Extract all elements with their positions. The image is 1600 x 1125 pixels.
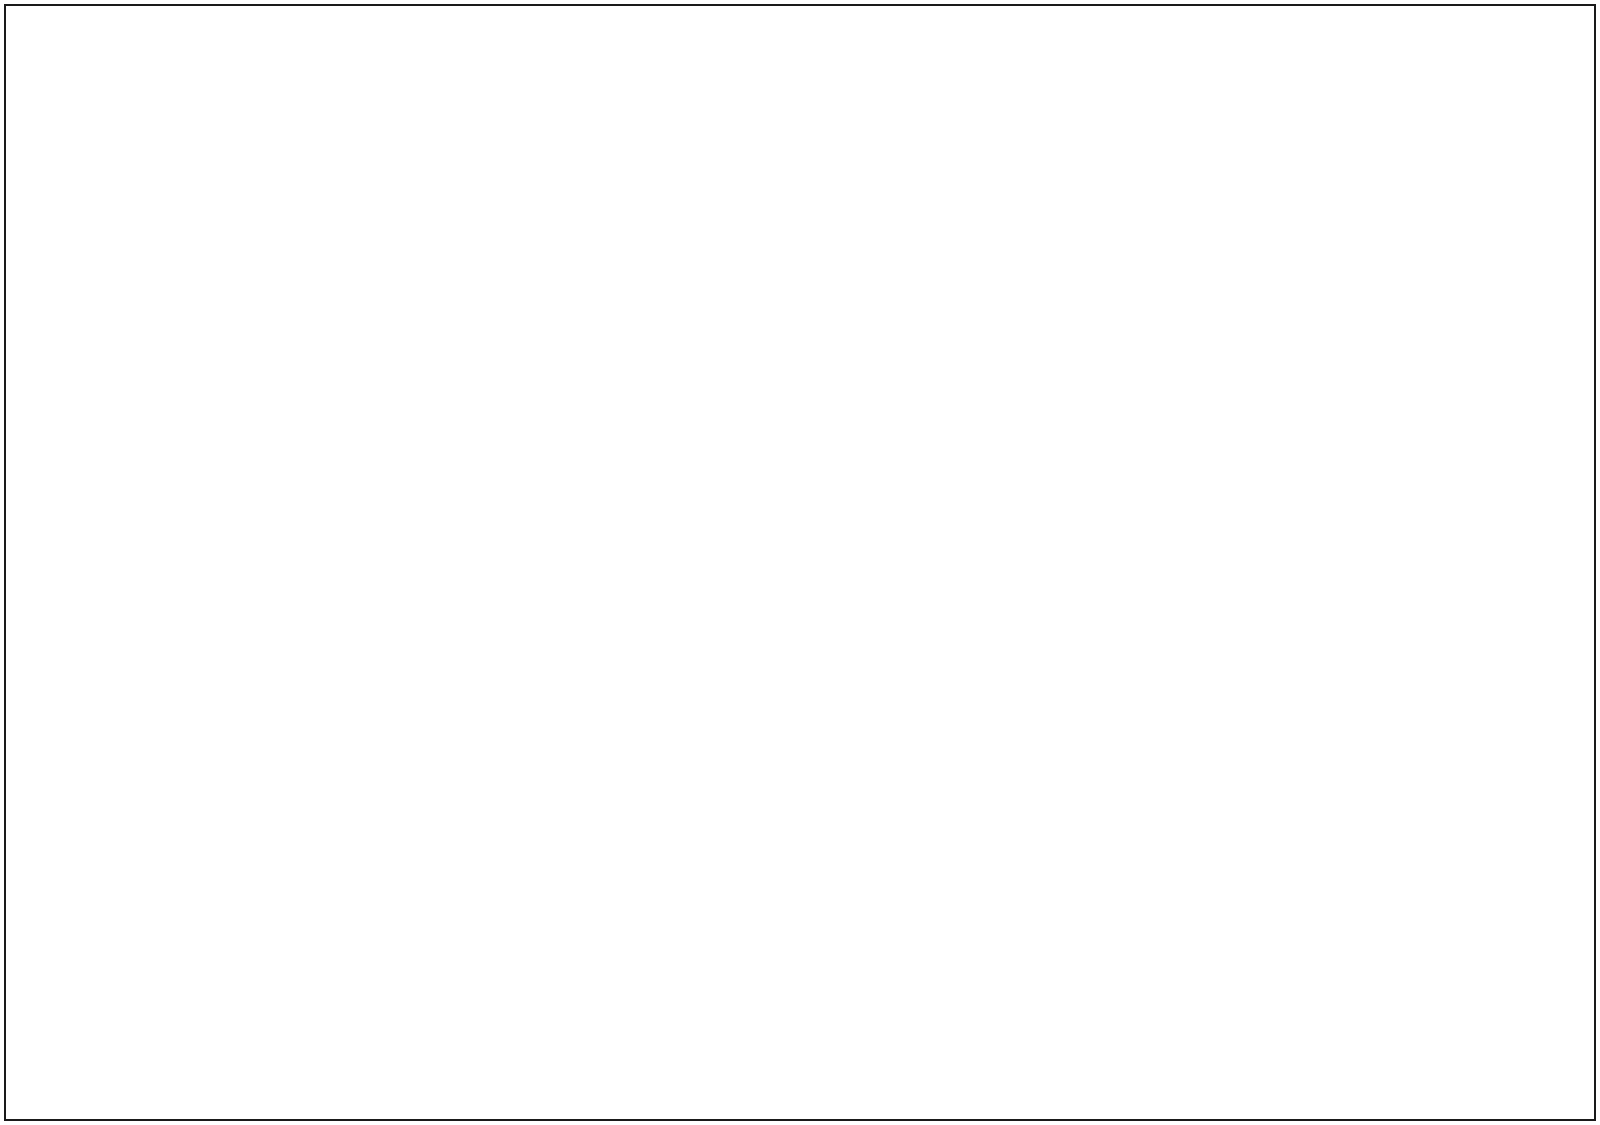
legend — [120, 958, 1520, 1068]
matrix-table-container — [86, 157, 1520, 894]
conditions-matrix-table — [86, 157, 1520, 894]
chart-page — [0, 0, 1600, 1125]
